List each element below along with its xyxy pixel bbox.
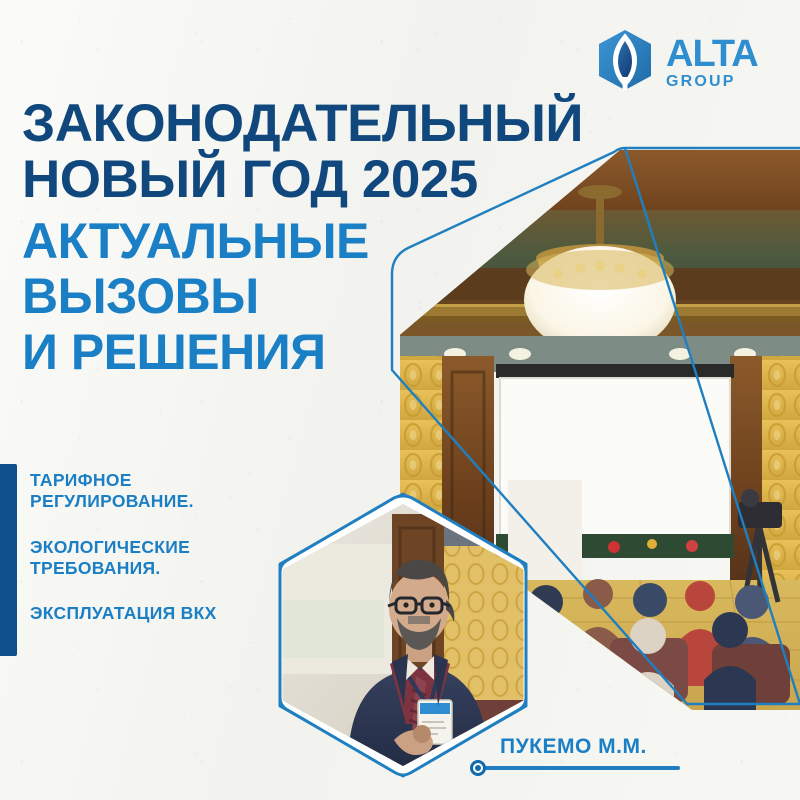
hexagon-waterdrop-icon (592, 27, 658, 93)
topics-list: ТАРИФНОЕРЕГУЛИРОВАНИЕ. ЭКОЛОГИЧЕСКИЕТРЕБ… (30, 470, 270, 625)
speaker-name-block: ПУКЕМО М.М. (470, 735, 770, 785)
topic-item-3: ЭКСПЛУАТАЦИЯ ВКХ (30, 603, 270, 624)
brand-subtitle: GROUP (666, 74, 758, 90)
accent-bar (0, 464, 17, 656)
name-underline-rule (480, 766, 680, 770)
brand-logo[interactable]: ALTA GROUP (592, 24, 788, 96)
name-bullet-dot-icon (470, 760, 486, 776)
title-line-2: НОВЫЙ ГОД 2025 (22, 154, 642, 206)
title-line-3: АКТУАЛЬНЫЕ (22, 217, 642, 267)
topic-item-2: ЭКОЛОГИЧЕСКИЕТРЕБОВАНИЯ. (30, 537, 270, 580)
brand-wordmark: ALTA GROUP (666, 31, 758, 90)
brand-name: ALTA (666, 35, 758, 73)
title-line-1: ЗАКОНОДАТЕЛЬНЫЙ (22, 98, 642, 150)
title-line-4: ВЫЗОВЫ (22, 272, 642, 322)
poster-canvas: ALTA GROUP ЗАКОНОДАТЕЛЬНЫЙ НОВЫЙ ГОД 202… (0, 0, 800, 800)
page-title: ЗАКОНОДАТЕЛЬНЫЙ НОВЫЙ ГОД 2025 АКТУАЛЬНЫ… (22, 98, 642, 377)
topic-item-1: ТАРИФНОЕРЕГУЛИРОВАНИЕ. (30, 470, 270, 513)
speaker-name-label: ПУКЕМО М.М. (500, 735, 647, 759)
title-line-5: И РЕШЕНИЯ (22, 328, 642, 378)
